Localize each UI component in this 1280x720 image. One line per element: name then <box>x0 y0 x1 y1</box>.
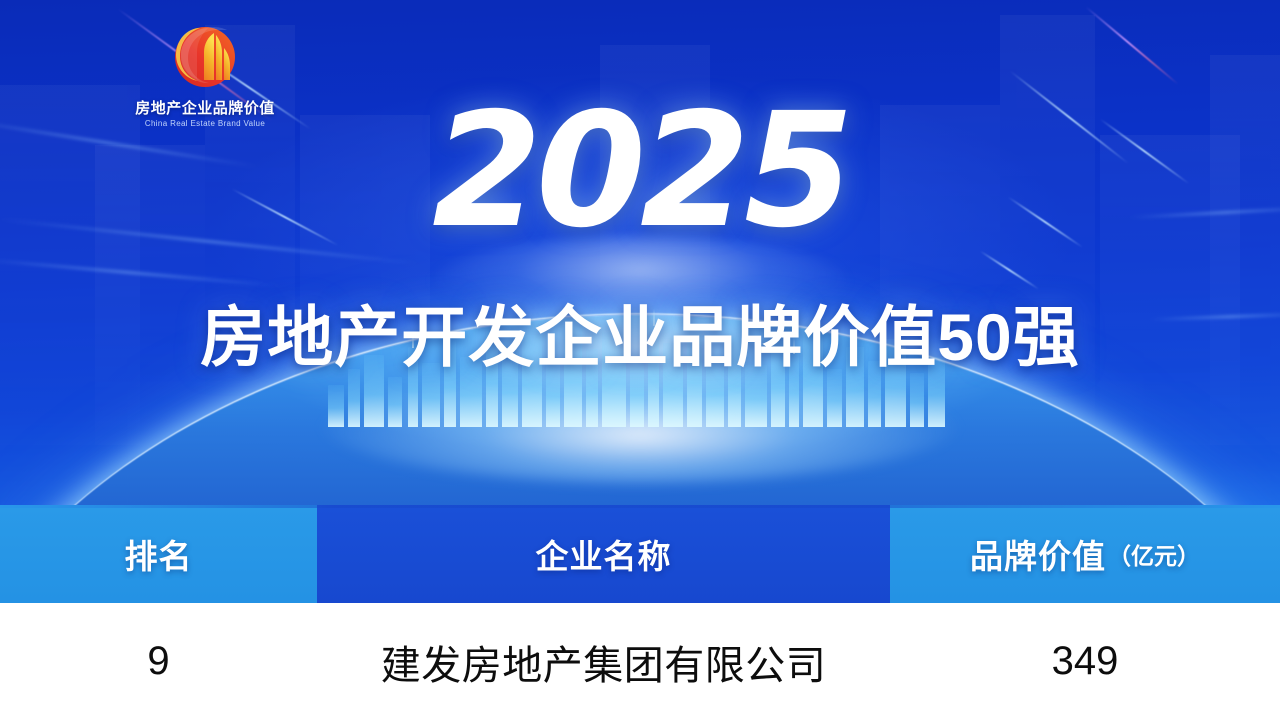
table-header-row: 排名 企业名称 品牌价值 （亿元） <box>0 505 1280 603</box>
table-row: 9 建发房地产集团有限公司 349 <box>0 603 1280 720</box>
header-top-divider <box>0 505 1280 508</box>
poster-root: 房地产企业品牌价值 China Real Estate Brand Value … <box>0 0 1280 720</box>
column-header-brand-value: 品牌价值 （亿元） <box>890 505 1280 603</box>
column-header-company-name: 企业名称 <box>317 505 890 603</box>
cell-brand-value: 349 <box>890 639 1280 684</box>
year-title: 2025 <box>0 92 1280 250</box>
cell-rank: 9 <box>0 639 317 684</box>
hero-banner: 房地产企业品牌价值 China Real Estate Brand Value … <box>0 0 1280 505</box>
column-header-brand-value-label: 品牌价值 <box>970 530 1106 578</box>
real-estate-brand-value-emblem-icon <box>166 18 244 94</box>
column-header-rank-label: 排名 <box>125 530 193 578</box>
column-header-company-name-label: 企业名称 <box>536 530 672 578</box>
page-title: 房地产开发企业品牌价值50强 <box>0 304 1280 370</box>
column-header-rank: 排名 <box>0 505 317 603</box>
cell-company-name: 建发房地产集团有限公司 <box>317 633 890 691</box>
column-header-brand-value-unit: （亿元） <box>1108 537 1200 571</box>
table-body: 9 建发房地产集团有限公司 349 <box>0 603 1280 720</box>
